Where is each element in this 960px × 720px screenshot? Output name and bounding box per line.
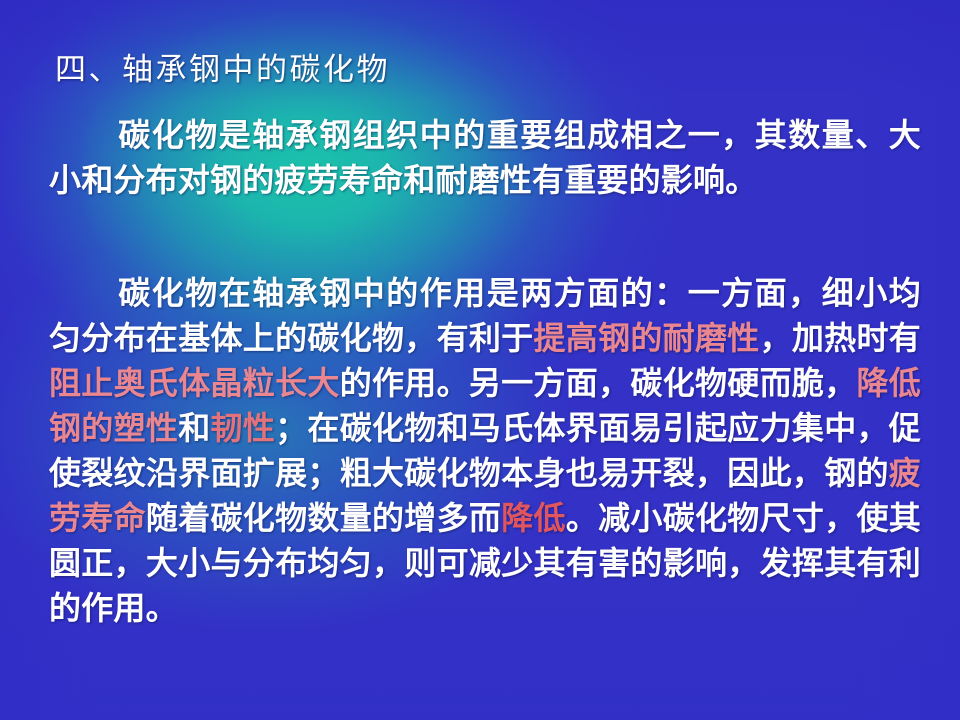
highlighted-text-run: 韧性 [211, 410, 276, 446]
slide-title: 四、轴承钢中的碳化物 [55, 44, 390, 89]
text-run: 的作用。另一方面，碳化物硬而脆， [340, 365, 857, 401]
text-run: 碳化物是轴承钢组织中的重要组成相之一，其数量、大小和分布对钢的疲劳寿命和耐磨性有… [49, 117, 921, 198]
highlighted-text-run: 降低 [501, 500, 566, 536]
paragraph-1-runs: 碳化物是轴承钢组织中的重要组成相之一，其数量、大小和分布对钢的疲劳寿命和耐磨性有… [49, 117, 921, 198]
highlighted-text-run: 阻止奥氏体晶粒长大 [49, 365, 340, 401]
paragraph-carbide-two-aspects: 碳化物在轴承钢中的作用是两方面的：一方面，细小均匀分布在基体上的碳化物，有利于提… [49, 271, 921, 631]
paragraph-carbide-role-overview: 碳化物是轴承钢组织中的重要组成相之一，其数量、大小和分布对钢的疲劳寿命和耐磨性有… [49, 113, 921, 203]
text-run: 随着碳化物数量的增多而 [146, 500, 501, 536]
text-run: 和 [178, 410, 210, 446]
highlighted-text-run: 提高钢的耐磨性 [533, 320, 759, 356]
slide-content: 四、轴承钢中的碳化物 碳化物是轴承钢组织中的重要组成相之一，其数量、大小和分布对… [0, 0, 960, 720]
presentation-slide: 四、轴承钢中的碳化物 碳化物是轴承钢组织中的重要组成相之一，其数量、大小和分布对… [0, 0, 960, 720]
text-run: ，加热时有 [760, 320, 921, 356]
paragraph-2-runs: 碳化物在轴承钢中的作用是两方面的：一方面，细小均匀分布在基体上的碳化物，有利于提… [49, 275, 921, 626]
